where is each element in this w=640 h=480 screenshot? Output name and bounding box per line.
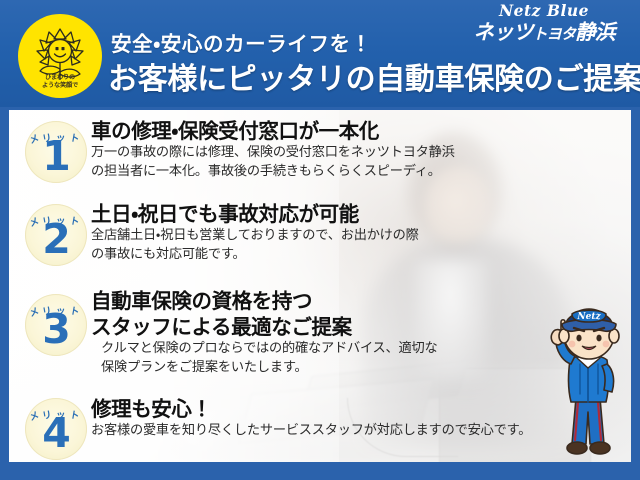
merits-list: メリット 1 車の修理・保険受付窓口が一本化 万一の事故の際には修理、保険の受付… [9, 110, 631, 462]
netz-staff-mascot-icon: Netz [544, 298, 630, 462]
merit-badge-1: メリット 1 [25, 121, 87, 183]
merit-title-4: 修理も安心！ [91, 397, 531, 422]
merit-desc-1-line1: 万一の事故の際には修理、保険の受付窓口をネッツトヨタ静浜 [91, 144, 455, 163]
merit-desc-2-line1: 全店舗土日・祝日も営業しておりますので、お出かけの際 [91, 227, 419, 246]
merit-content-4: 修理も安心！ お客様の愛車を知り尽くしたサービススタッフが対応しますので安心です… [91, 397, 531, 441]
merit-content-1: 車の修理・保険受付窓口が一本化 万一の事故の際には修理、保険の受付窓口をネッツト… [91, 119, 455, 181]
brand-jp-shizuhama: 静浜 [575, 20, 614, 44]
merit-content-2: 土日・祝日でも事故対応が可能 全店舗土日・祝日も営業しておりますので、お出かけの… [91, 202, 419, 264]
frame-border-bottom [0, 462, 640, 480]
brand-jp-netz: ネッツ [473, 20, 532, 44]
merit-badge-number-4: 4 [25, 411, 87, 455]
merit-desc-2-line2: の事故にも対応可能です。 [91, 246, 419, 265]
brand-name-japanese: ネッツトヨタ静浜 [458, 21, 630, 46]
banner-header: ひまわりの ような笑顔で 安全・安心のカーライフを！ お客様にピッタリの自動車保… [0, 0, 640, 107]
merit-badge-3: メリット 3 [25, 294, 87, 356]
merit-badge-number-1: 1 [25, 134, 87, 178]
merit-title-1: 車の修理・保険受付窓口が一本化 [91, 119, 455, 144]
merit-content-3: 自動車保険の資格を持つ スタッフによる最適なご提案 クルマと保険のプロならではの… [91, 289, 438, 377]
frame-border-right [631, 107, 640, 480]
mascot-cap-text: Netz [576, 312, 601, 322]
sunflower-caption-line1: ひまわりの [18, 74, 102, 81]
merits-panel: メリット 1 車の修理・保険受付窓口が一本化 万一の事故の際には修理、保険の受付… [9, 110, 631, 462]
brand-jp-toyota: トヨタ [533, 25, 576, 43]
merit-badge-4: メリット 4 [25, 398, 87, 460]
frame-border-left [0, 107, 9, 480]
headline-primary: 安全・安心のカーライフを！ [111, 27, 372, 57]
merit-desc-1-line2: の担当者に一本化。事故後の手続きもらくらくスピーディ。 [91, 163, 455, 182]
dealer-brand-logo: Netz Blue ネッツトヨタ静浜 [458, 2, 630, 46]
sunflower-caption: ひまわりの ような笑顔で [18, 74, 102, 89]
merit-desc-3-line2: 保険プランをご提案をいたします。 [91, 359, 438, 378]
sunflower-caption-line2: ような笑顔で [18, 82, 102, 89]
merit-badge-number-2: 2 [25, 217, 87, 261]
merit-title-3-line2: スタッフによる最適なご提案 [91, 315, 438, 340]
insurance-promo-banner: ひまわりの ような笑顔で 安全・安心のカーライフを！ お客様にピッタリの自動車保… [0, 0, 640, 480]
merit-badge-2: メリット 2 [25, 204, 87, 266]
merit-badge-number-3: 3 [25, 307, 87, 351]
merit-desc-3-line1: クルマと保険のプロならではの的確なアドバイス、適切な [91, 340, 438, 359]
merit-title-2: 土日・祝日でも事故対応が可能 [91, 202, 419, 227]
brand-name-english: Netz Blue [458, 2, 630, 20]
sunflower-icon: ひまわりの ような笑顔で [18, 14, 102, 98]
headline-secondary: お客様にピッタリの自動車保険のご提案 [108, 54, 640, 98]
merit-title-3-line1: 自動車保険の資格を持つ [91, 289, 438, 314]
merit-desc-4-line1: お客様の愛車を知り尽くしたサービススタッフが対応しますので安心です。 [91, 422, 531, 441]
